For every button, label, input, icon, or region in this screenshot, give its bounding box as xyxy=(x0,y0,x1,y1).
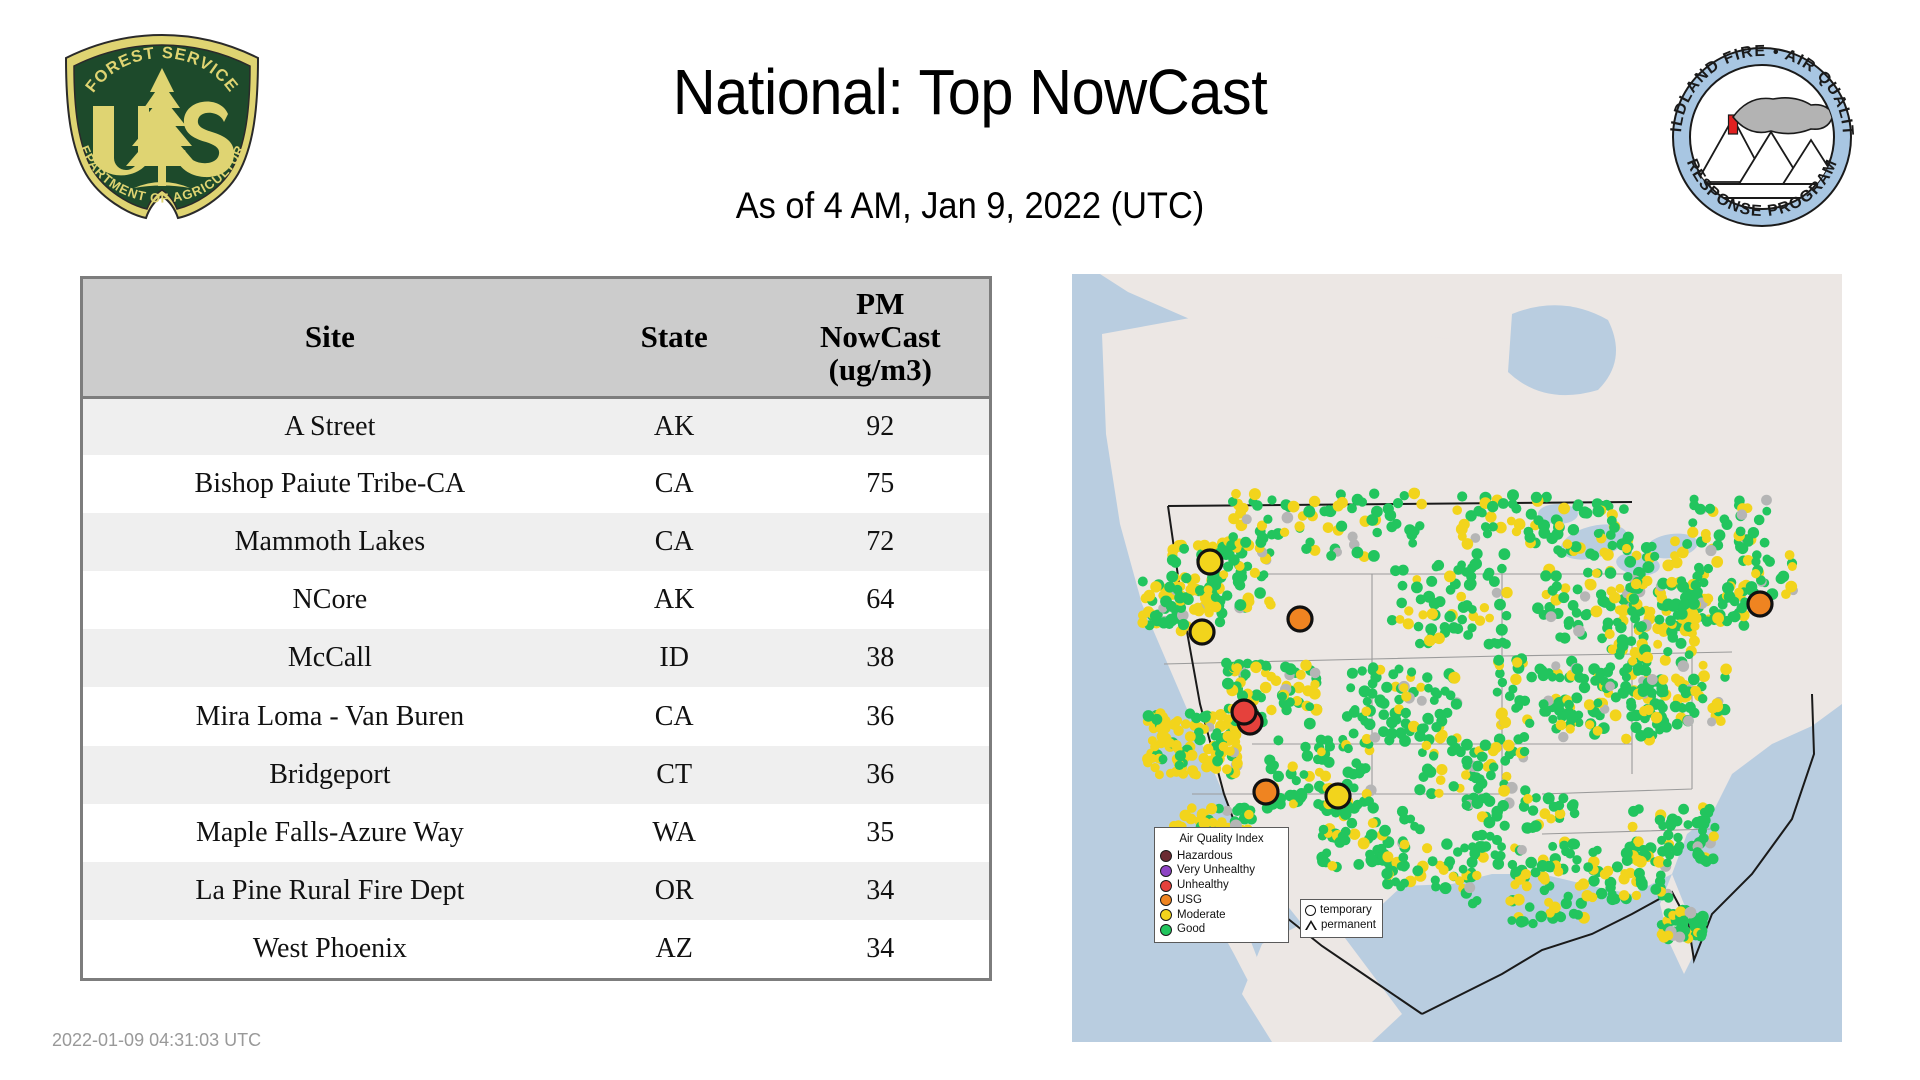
monitor-dot xyxy=(1687,527,1698,538)
monitor-dot xyxy=(1472,761,1483,772)
monitor-dot xyxy=(1463,630,1473,640)
monitor-dot xyxy=(1698,670,1710,682)
monitor-dot xyxy=(1672,719,1683,730)
aqi-legend-item: Unhealthy xyxy=(1160,878,1283,893)
highlighted-monitor-dot[interactable] xyxy=(1748,592,1772,616)
monitor-dot xyxy=(1213,728,1222,737)
monitor-dot xyxy=(1632,855,1643,866)
highlighted-monitor-dot[interactable] xyxy=(1326,784,1350,808)
monitor-dot xyxy=(1309,496,1320,507)
monitor-dot xyxy=(1516,916,1528,928)
monitor-dot xyxy=(1583,568,1593,578)
monitor-dot xyxy=(1426,576,1437,587)
monitor-dot xyxy=(1400,863,1409,872)
monitor-dot xyxy=(1399,683,1408,692)
monitor-dot xyxy=(1643,727,1654,738)
monitor-dot xyxy=(1261,661,1271,671)
monitor-dot xyxy=(1572,608,1582,618)
monitor-dot xyxy=(1193,603,1203,613)
aqi-swatch-icon xyxy=(1160,909,1172,921)
monitor-dot xyxy=(1503,740,1515,752)
monitor-dot xyxy=(1185,731,1196,742)
monitor-dot xyxy=(1422,741,1432,751)
aqi-legend-item: Good xyxy=(1160,922,1283,937)
pm-value-cell: 72 xyxy=(772,513,989,571)
pm-value-cell: 36 xyxy=(772,746,989,804)
monitor-dot xyxy=(1228,532,1238,542)
highlighted-monitor-dot[interactable] xyxy=(1254,780,1278,804)
monitor-dot xyxy=(1485,614,1494,623)
aqi-legend-label: Good xyxy=(1177,922,1205,937)
monitor-dot xyxy=(1445,856,1456,867)
monitor-dot xyxy=(1549,902,1561,914)
monitor-dot xyxy=(1605,567,1617,579)
monitor-dot xyxy=(1568,524,1579,535)
monitor-dot xyxy=(1480,740,1491,751)
monitor-dot xyxy=(1564,700,1574,710)
monitor-dot xyxy=(1558,503,1570,515)
monitor-dot xyxy=(1681,688,1691,698)
monitor-dot xyxy=(1187,803,1197,813)
monitor-dot xyxy=(1408,539,1417,548)
monitor-dot xyxy=(1495,669,1505,679)
pm-value-cell: 75 xyxy=(772,455,989,513)
monitor-dot xyxy=(1730,597,1740,607)
monitor-dot xyxy=(1609,523,1618,532)
monitor-dot xyxy=(1343,767,1354,778)
monitor-dot xyxy=(1632,891,1641,900)
monitor-dot xyxy=(1337,497,1348,508)
monitor-dot xyxy=(1710,823,1719,832)
monitor-dot xyxy=(1478,752,1488,762)
column-header-state: State xyxy=(577,279,772,397)
monitor-dot xyxy=(1646,607,1656,617)
monitor-dot xyxy=(1278,692,1287,701)
monitor-dot xyxy=(1631,722,1642,733)
monitor-dot xyxy=(1340,808,1352,820)
monitor-dot xyxy=(1447,735,1458,746)
monitor-dot xyxy=(1490,638,1499,647)
aqi-legend: Air Quality Index HazardousVery Unhealth… xyxy=(1154,827,1289,943)
monitor-dot xyxy=(1699,661,1708,670)
monitor-dot xyxy=(1532,793,1541,802)
monitor-dot xyxy=(1143,710,1155,722)
monitor-dot xyxy=(1615,584,1624,593)
monitor-dot xyxy=(1593,726,1603,736)
monitor-dot xyxy=(1222,764,1232,774)
monitor-dot xyxy=(1596,888,1607,899)
monitor-dot xyxy=(1551,570,1562,581)
monitor-dot xyxy=(1429,751,1438,760)
monitor-dot xyxy=(1555,673,1564,682)
monitor-dot xyxy=(1159,755,1168,764)
monitor-dot xyxy=(1396,882,1405,891)
monitor-dot xyxy=(1555,521,1564,530)
aqi-legend-label: Hazardous xyxy=(1177,849,1233,864)
monitor-dot xyxy=(1781,589,1791,599)
table-row: Maple Falls-Azure WayWA35 xyxy=(83,804,989,862)
monitor-dot xyxy=(1557,721,1566,730)
aqi-legend-item: Moderate xyxy=(1160,908,1283,923)
monitor-dot xyxy=(1498,785,1510,797)
monitor-dot xyxy=(1382,851,1393,862)
monitor-dot xyxy=(1444,571,1456,583)
pm-value-cell: 34 xyxy=(772,920,989,978)
monitor-dot xyxy=(1396,729,1406,739)
monitor-dot xyxy=(1273,735,1283,745)
monitor-dot xyxy=(1436,775,1446,785)
monitor-dot xyxy=(1383,503,1394,514)
monitor-dot xyxy=(1663,647,1672,656)
monitor-dot xyxy=(1693,847,1702,856)
monitor-dot xyxy=(1353,800,1363,810)
monitor-dot xyxy=(1688,518,1697,527)
monitor-dot xyxy=(1620,681,1631,692)
monitor-dot xyxy=(1566,713,1577,724)
monitor-dot xyxy=(1709,831,1719,841)
monitor-dot xyxy=(1271,676,1282,687)
monitor-dot xyxy=(1498,638,1507,647)
monitor-dot xyxy=(1754,515,1765,526)
site-cell: La Pine Rural Fire Dept xyxy=(83,862,577,920)
monitor-dot xyxy=(1144,590,1156,602)
monitor-dot xyxy=(1708,853,1719,864)
monitor-dot xyxy=(1507,916,1516,925)
monitor-dot xyxy=(1602,667,1613,678)
pm-header-line-1: PM xyxy=(776,288,985,321)
monitor-dot xyxy=(1555,801,1565,811)
aqi-legend-item: Very Unhealthy xyxy=(1160,863,1283,878)
monitor-dot xyxy=(1372,528,1382,538)
highlighted-monitor-dot[interactable] xyxy=(1190,620,1214,644)
monitor-dot xyxy=(1673,833,1682,842)
monitor-dot xyxy=(1540,875,1550,885)
table-header: Site State PM NowCast (ug/m3) xyxy=(83,279,989,397)
monitor-dot xyxy=(1416,683,1425,692)
monitor-dot xyxy=(1537,860,1549,872)
pm-value-cell: 35 xyxy=(772,804,989,862)
monitor-dot xyxy=(1593,505,1605,517)
monitor-dot xyxy=(1424,635,1436,647)
monitor-dot xyxy=(1459,865,1468,874)
monitor-dot xyxy=(1557,548,1567,558)
monitor-dot xyxy=(1525,719,1534,728)
monitor-dot xyxy=(1267,495,1276,504)
pm-header-line-3: (ug/m3) xyxy=(776,354,985,387)
monitor-dot xyxy=(1639,845,1648,854)
monitor-dot xyxy=(1663,859,1672,868)
state-cell: AZ xyxy=(577,920,772,978)
monitor-dot xyxy=(1720,514,1730,524)
monitor-dot xyxy=(1558,592,1569,603)
monitor-dot xyxy=(1552,581,1562,591)
monitor-dot xyxy=(1249,488,1261,500)
monitor-dot xyxy=(1744,537,1754,547)
monitor-dot xyxy=(1679,916,1689,926)
monitor-dot xyxy=(1456,592,1466,602)
monitor-dot xyxy=(1696,816,1707,827)
monitor-dot xyxy=(1525,857,1537,869)
forest-service-logo: FOREST SERVICE DEPARTMENT OF AGRICULTURE xyxy=(52,28,272,228)
state-cell: CA xyxy=(577,455,772,513)
monitor-dot xyxy=(1486,832,1495,841)
monitor-dot xyxy=(1540,886,1550,896)
monitor-dot xyxy=(1379,709,1390,720)
monitor-dot xyxy=(1398,853,1408,863)
monitor-dot xyxy=(1285,663,1297,675)
monitor-dot xyxy=(1662,599,1674,611)
monitor-dot xyxy=(1597,595,1609,607)
monitor-dot xyxy=(1619,890,1630,901)
monitor-dot xyxy=(1642,561,1654,573)
monitor-dot xyxy=(1642,652,1654,664)
monitor-dot xyxy=(1522,881,1532,891)
monitor-dot xyxy=(1658,675,1668,685)
monitor-dot xyxy=(1704,564,1713,573)
monitor-dot xyxy=(1570,839,1580,849)
monitor-dot xyxy=(1627,606,1637,616)
monitor-dot xyxy=(1303,506,1315,518)
monitor-dot xyxy=(1556,912,1566,922)
site-cell: West Phoenix xyxy=(83,920,577,978)
monitor-dot xyxy=(1255,537,1266,548)
monitor-dot xyxy=(1233,663,1242,672)
monitor-dot xyxy=(1622,535,1631,544)
site-cell: Mira Loma - Van Buren xyxy=(83,687,577,745)
monitor-dot xyxy=(1572,663,1584,675)
monitor-dot xyxy=(1166,769,1175,778)
monitor-dot xyxy=(1235,599,1247,611)
monitor-dot xyxy=(1491,742,1502,753)
monitor-dot xyxy=(1514,518,1526,530)
monitor-dot xyxy=(1535,911,1547,923)
monitor-dot xyxy=(1734,588,1744,598)
monitor-dot xyxy=(1398,581,1408,591)
monitor-dot xyxy=(1702,534,1711,543)
monitor-dot xyxy=(1523,794,1533,804)
monitor-dot xyxy=(1608,645,1618,655)
monitor-dot xyxy=(1349,729,1359,739)
monitor-dot xyxy=(1688,674,1700,686)
monitor-dot xyxy=(1514,702,1523,711)
monitor-dot xyxy=(1511,867,1522,878)
monitor-dot xyxy=(1254,587,1266,599)
monitor-dot xyxy=(1583,862,1593,872)
monitor-dot xyxy=(1622,673,1631,682)
monitor-dot xyxy=(1181,719,1191,729)
monitor-dot xyxy=(1517,845,1527,855)
monitor-dot xyxy=(1244,810,1254,820)
us-air-quality-map[interactable]: Air Quality Index HazardousVery Unhealth… xyxy=(1072,274,1842,1042)
monitor-dot xyxy=(1323,522,1334,533)
monitor-dot xyxy=(1206,803,1217,814)
monitor-dot xyxy=(1379,825,1391,837)
monitor-dot xyxy=(1748,527,1759,538)
monitor-dot xyxy=(1175,750,1186,761)
monitor-dot xyxy=(1607,586,1617,596)
aqi-swatch-icon xyxy=(1160,894,1172,906)
monitor-dot xyxy=(1573,584,1583,594)
state-cell: CT xyxy=(577,746,772,804)
highlighted-monitor-dot[interactable] xyxy=(1288,607,1312,631)
monitor-dot xyxy=(1404,606,1413,615)
monitor-dot xyxy=(1699,833,1709,843)
monitor-dot xyxy=(1513,734,1523,744)
nowcast-report-page: FOREST SERVICE DEPARTMENT OF AGRICULTURE xyxy=(0,0,1920,1080)
monitor-dot xyxy=(1720,664,1732,676)
monitor-dot xyxy=(1520,747,1529,756)
monitor-dot xyxy=(1678,804,1689,815)
monitor-dot xyxy=(1390,565,1401,576)
monitor-dot xyxy=(1353,859,1364,870)
monitor-dot xyxy=(1626,698,1636,708)
monitor-dot xyxy=(1411,582,1423,594)
monitor-dot xyxy=(1561,898,1572,909)
monitor-dot xyxy=(1317,747,1326,756)
monitor-dot xyxy=(1401,691,1411,701)
monitor-dot xyxy=(1231,489,1241,499)
state-cell: AK xyxy=(577,571,772,629)
monitor-dot xyxy=(1611,692,1621,702)
monitor-dot xyxy=(1169,721,1178,730)
monitor-dot xyxy=(1334,837,1345,848)
monitor-dot xyxy=(1232,758,1243,769)
monitor-dot xyxy=(1707,717,1716,726)
monitor-dot xyxy=(1560,583,1570,593)
table-header-row: Site State PM NowCast (ug/m3) xyxy=(83,279,989,397)
monitor-dot xyxy=(1664,931,1674,941)
monitor-dot xyxy=(1410,526,1420,536)
monitor-dot xyxy=(1457,615,1467,625)
monitor-dot xyxy=(1160,596,1172,608)
monitor-dot xyxy=(1705,545,1716,556)
monitor-dot xyxy=(1486,771,1496,781)
monitor-dot xyxy=(1643,705,1654,716)
monitor-dot xyxy=(1718,600,1728,610)
monitor-dot xyxy=(1671,557,1683,569)
monitor-dot xyxy=(1359,685,1371,697)
monitor-dot xyxy=(1487,501,1498,512)
site-cell: Bridgeport xyxy=(83,746,577,804)
monitor-dot xyxy=(1348,532,1358,542)
column-header-site: Site xyxy=(83,279,577,397)
aqi-legend-label: Unhealthy xyxy=(1177,878,1229,893)
highlighted-monitor-dot[interactable] xyxy=(1198,550,1222,574)
monitor-dot xyxy=(1417,696,1427,706)
monitor-dot xyxy=(1370,732,1381,743)
monitor-dot xyxy=(1778,571,1788,581)
monitor-dot xyxy=(1647,688,1657,698)
monitor-dot xyxy=(1478,508,1487,517)
pm-value-cell: 36 xyxy=(772,687,989,745)
monitor-dot xyxy=(1751,569,1760,578)
aqi-legend-title: Air Quality Index xyxy=(1160,832,1283,847)
monitor-dot xyxy=(1382,878,1393,889)
monitor-dot xyxy=(1676,608,1688,620)
monitor-dot xyxy=(1548,842,1557,851)
aqi-legend-item: Hazardous xyxy=(1160,849,1283,864)
monitor-dot xyxy=(1415,639,1425,649)
site-cell: Maple Falls-Azure Way xyxy=(83,804,577,862)
monitor-dot xyxy=(1150,742,1159,751)
monitor-dot xyxy=(1151,763,1160,772)
page-subtitle: As of 4 AM, Jan 9, 2022 (UTC) xyxy=(375,185,1565,227)
monitor-dot xyxy=(1460,843,1469,852)
monitor-dot xyxy=(1451,699,1462,710)
monitor-dot xyxy=(1602,549,1614,561)
monitor-dot xyxy=(1138,617,1148,627)
monitor-dot xyxy=(1464,579,1476,591)
monitor-dot xyxy=(1273,771,1284,782)
monitor-dot xyxy=(1761,495,1772,506)
monitor-dot xyxy=(1386,717,1398,729)
monitor-dot xyxy=(1464,882,1475,893)
monitor-dot xyxy=(1166,571,1178,583)
monitor-dot xyxy=(1497,564,1507,574)
monitor-dot xyxy=(1498,498,1509,509)
monitor-dot xyxy=(1684,820,1693,829)
highlighted-monitor-dot[interactable] xyxy=(1232,700,1256,724)
wildland-fire-air-quality-logo: WILDLAND FIRE • AIR QUALITY RESPONSE PRO… xyxy=(1655,32,1870,242)
monitor-dot xyxy=(1414,622,1424,632)
monitor-dot xyxy=(1493,655,1504,666)
monitor-dot xyxy=(1501,587,1512,598)
monitor-dot xyxy=(1336,521,1347,532)
monitor-dot xyxy=(1300,660,1311,671)
monitor-dot xyxy=(1326,551,1336,561)
state-cell: ID xyxy=(577,629,772,687)
monitor-dot xyxy=(1613,618,1622,627)
monitor-dot xyxy=(1352,547,1364,559)
monitor-dot xyxy=(1401,708,1411,718)
monitor-dot xyxy=(1294,521,1304,531)
monitor-dot xyxy=(1452,505,1462,515)
monitor-dot xyxy=(1580,591,1590,601)
monitor-dot xyxy=(1344,744,1353,753)
monitor-dot xyxy=(1571,692,1582,703)
monitor-dot xyxy=(1588,893,1598,903)
monitor-dot xyxy=(1250,662,1262,674)
monitor-dot xyxy=(1705,504,1715,514)
monitor-dot xyxy=(1765,557,1775,567)
monitor-dot xyxy=(1366,514,1378,526)
monitor-dot xyxy=(1716,716,1726,726)
monitor-dot xyxy=(1187,750,1198,761)
monitor-dot xyxy=(1531,492,1542,503)
monitor-dot xyxy=(1636,621,1647,632)
monitor-dot xyxy=(1418,610,1427,619)
monitor-dot xyxy=(1578,878,1589,889)
monitor-dot xyxy=(1581,508,1592,519)
monitor-dot xyxy=(1264,597,1274,607)
monitor-dot xyxy=(1250,568,1260,578)
legend-row-permanent: permanent xyxy=(1305,918,1376,933)
monitor-dot xyxy=(1525,532,1536,543)
monitor-dot xyxy=(1386,728,1397,739)
table-row: A StreetAK92 xyxy=(83,397,989,455)
monitor-dot xyxy=(1542,708,1551,717)
monitor-dot xyxy=(1264,755,1275,766)
monitor-dot xyxy=(1388,669,1398,679)
monitor-dot xyxy=(1491,850,1500,859)
monitor-dot xyxy=(1788,562,1797,571)
monitor-dot xyxy=(1505,896,1515,906)
monitor-dot xyxy=(1530,820,1542,832)
state-cell: AK xyxy=(577,397,772,455)
monitor-dot xyxy=(1558,732,1568,742)
monitor-dot xyxy=(1481,522,1490,531)
monitor-dot xyxy=(1425,766,1435,776)
